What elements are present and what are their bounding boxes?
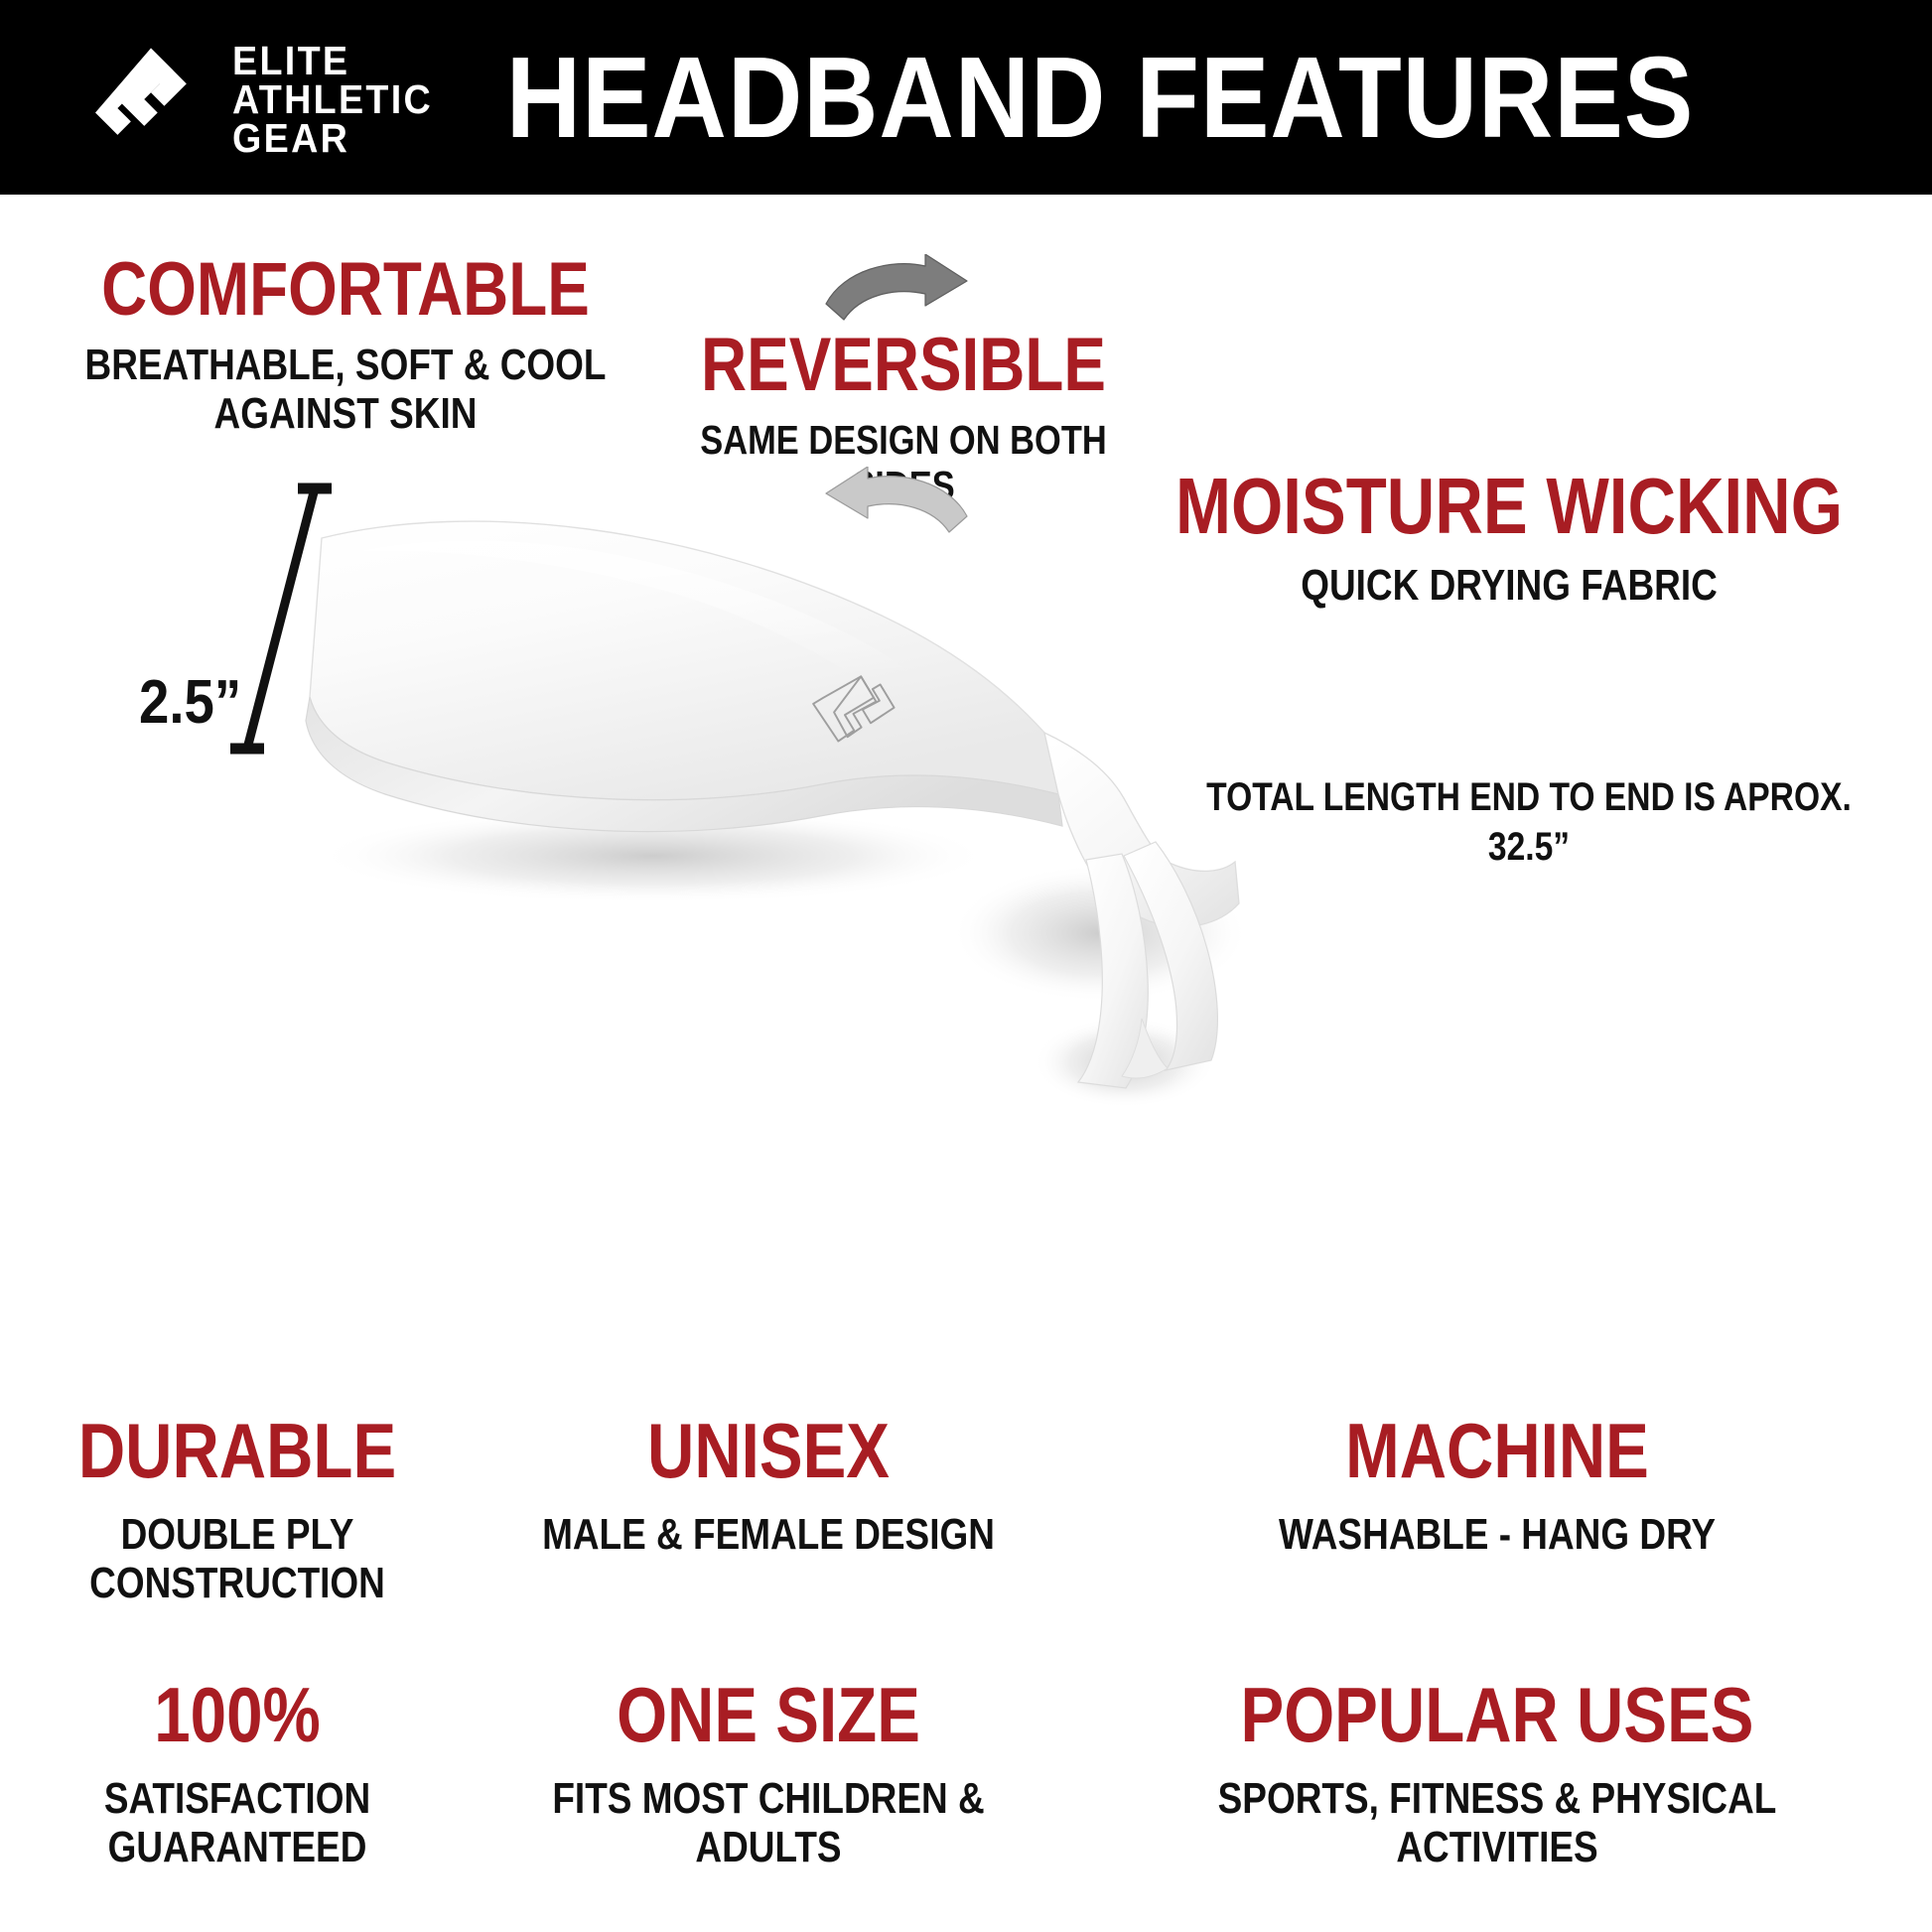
feature-durable-subtitle: DOUBLE PLY CONSTRUCTION bbox=[50, 1510, 425, 1608]
feature-unisex: UNISEX MALE & FEMALE DESIGN bbox=[475, 1414, 1062, 1607]
feature-comfortable-subtitle: BREATHABLE, SOFT & COOL AGAINST SKIN bbox=[70, 341, 621, 439]
feature-satisfaction: 100% SATISFACTION GUARANTEED bbox=[0, 1678, 475, 1871]
feature-machine-washable: MACHINE WASHABLE - HANG DRY bbox=[1062, 1414, 1932, 1607]
feature-machine-title: MACHINE bbox=[1144, 1414, 1851, 1488]
feature-durable-title: DURABLE bbox=[50, 1414, 425, 1488]
feature-unisex-title: UNISEX bbox=[533, 1414, 1004, 1488]
feature-unisex-subtitle: MALE & FEMALE DESIGN bbox=[533, 1510, 1004, 1559]
page-title: HEADBAND FEATURES bbox=[96, 0, 1835, 195]
feature-durable: DURABLE DOUBLE PLY CONSTRUCTION bbox=[0, 1414, 475, 1607]
feature-one-size: ONE SIZE FITS MOST CHILDREN & ADULTS bbox=[475, 1678, 1062, 1871]
feature-row-guarantee-size-uses: 100% SATISFACTION GUARANTEED ONE SIZE FI… bbox=[0, 1678, 1932, 1871]
feature-one-size-subtitle: FITS MOST CHILDREN & ADULTS bbox=[533, 1774, 1004, 1872]
infographic-page: ELITE ATHLETIC GEAR HEADBAND FEATURES CO… bbox=[0, 0, 1932, 1932]
total-length-note: TOTAL LENGTH END TO END IS APROX. 32.5” bbox=[1203, 772, 1854, 873]
feature-popular-uses-title: POPULAR USES bbox=[1144, 1678, 1851, 1752]
feature-comfortable-title: COMFORTABLE bbox=[70, 254, 621, 327]
curved-arrow-right-icon bbox=[822, 254, 971, 332]
header-bar: ELITE ATHLETIC GEAR HEADBAND FEATURES bbox=[0, 0, 1932, 195]
feature-machine-subtitle: WASHABLE - HANG DRY bbox=[1144, 1510, 1851, 1559]
feature-popular-uses-subtitle: SPORTS, FITNESS & PHYSICAL ACTIVITIES bbox=[1144, 1774, 1851, 1872]
feature-row-durable-unisex-machine: DURABLE DOUBLE PLY CONSTRUCTION UNISEX M… bbox=[0, 1414, 1932, 1607]
feature-popular-uses: POPULAR USES SPORTS, FITNESS & PHYSICAL … bbox=[1062, 1678, 1932, 1871]
feature-satisfaction-subtitle: SATISFACTION GUARANTEED bbox=[50, 1774, 425, 1872]
feature-reversible-title: REVERSIBLE bbox=[645, 330, 1163, 402]
feature-comfortable: COMFORTABLE BREATHABLE, SOFT & COOL AGAI… bbox=[18, 254, 673, 438]
white-tie-back-headband-photo bbox=[226, 467, 1279, 1122]
feature-satisfaction-title: 100% bbox=[50, 1678, 425, 1752]
feature-one-size-title: ONE SIZE bbox=[533, 1678, 1004, 1752]
